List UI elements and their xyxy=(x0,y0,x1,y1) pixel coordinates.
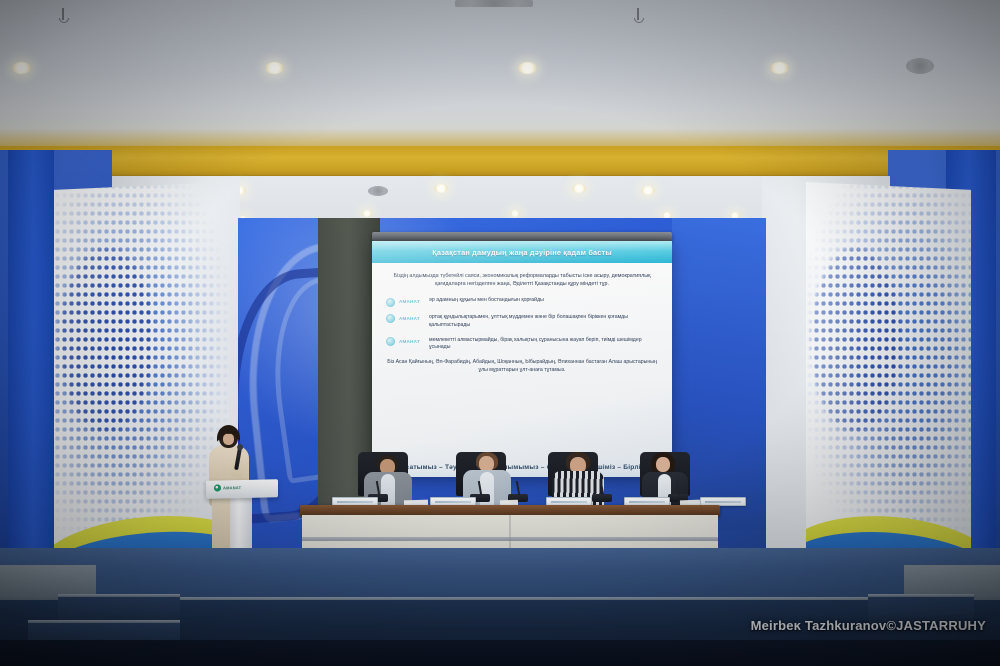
stage-step-edge xyxy=(868,594,974,597)
ceiling-downlight xyxy=(434,184,448,193)
slide-footer-slogan: Мақсатымыз – Тәуелсіздік, Ұстанымымыз – … xyxy=(372,457,672,477)
ceiling-downlight xyxy=(510,210,520,217)
bullet-text: ортақ құндылықтарымен, ұлттық мүддемен ж… xyxy=(429,314,658,330)
bullet-text: әр адамның құқығы мен бостандығын қорғай… xyxy=(429,297,544,305)
left-blue-pillar xyxy=(8,150,54,580)
conference-hall-photo: Қазақстан дамудың жаңа дәуіріне қадам ба… xyxy=(0,0,1000,666)
speaker-face xyxy=(223,433,234,445)
ceiling-hook-icon xyxy=(62,8,64,20)
projection-screen: Қазақстан дамудың жаңа дәуіріне қадам ба… xyxy=(372,241,672,477)
stage-carpet xyxy=(0,548,1000,600)
amanat-bullet-icon xyxy=(386,337,395,346)
podium-logo: AMANAT xyxy=(214,484,241,492)
stage-step-left xyxy=(58,596,180,622)
hall-floor xyxy=(0,640,1000,666)
bullet-tag: АМАНАТ xyxy=(399,339,425,344)
ceiling-downlight xyxy=(518,62,537,74)
bullet-text: мемлекетті алмастырмайды, бірақ халықтың… xyxy=(429,337,658,353)
projector-screen-housing xyxy=(372,232,672,241)
gold-cornice-band xyxy=(0,146,1000,180)
slide-bullet: АМАНАТ мемлекетті алмастырмайды, бірақ х… xyxy=(386,337,658,353)
ceiling-downlight xyxy=(641,186,655,195)
bullet-tag: АМАНАТ xyxy=(399,316,425,321)
right-decor-banner xyxy=(806,182,971,577)
left-decor-banner xyxy=(54,182,229,577)
ceiling-vent-icon xyxy=(906,58,934,74)
amanat-logo-icon xyxy=(214,484,221,491)
head xyxy=(656,457,670,472)
slide-bullet: АМАНАТ әр адамның құқығы мен бостандығын… xyxy=(386,297,658,307)
ceiling-vent-icon xyxy=(368,186,388,196)
slide-body: Біздің алдымызда түбегейлі саяси, эконом… xyxy=(372,263,672,477)
stage-step-edge xyxy=(58,594,180,597)
ceiling-downlight xyxy=(265,62,284,74)
ceiling-downlight xyxy=(12,62,31,74)
bullet-tag: АМАНАТ xyxy=(399,299,425,304)
ceiling-downlight xyxy=(572,184,586,193)
slide-title: Қазақстан дамудың жаңа дәуіріне қадам ба… xyxy=(372,241,672,263)
podium: AMANAT xyxy=(206,479,278,499)
amanat-bullet-icon xyxy=(386,314,395,323)
desk-microphone-icon xyxy=(592,494,612,502)
slide-intro-text: Біздің алдымызда түбегейлі саяси, эконом… xyxy=(386,272,658,288)
photo-watermark: Meirbeĸ Tazhkuranov©JASTARRUHY xyxy=(751,618,986,633)
slide-bullet: АМАНАТ ортақ құндылықтарымен, ұлттық мүд… xyxy=(386,314,658,330)
stage-step-edge xyxy=(28,620,180,623)
amanat-bullet-icon xyxy=(386,298,395,307)
ceiling-downlight xyxy=(770,62,789,74)
slide-outro-text: Біз Асан Қайғының, Әл-Фарабидің, Абайдың… xyxy=(386,359,658,375)
outer-ceiling xyxy=(0,0,1000,150)
ceiling-downlight xyxy=(362,210,372,217)
podium-logo-text: AMANAT xyxy=(223,485,241,490)
ceiling-duct-icon xyxy=(455,0,533,7)
ceiling-hook-icon xyxy=(637,8,639,20)
